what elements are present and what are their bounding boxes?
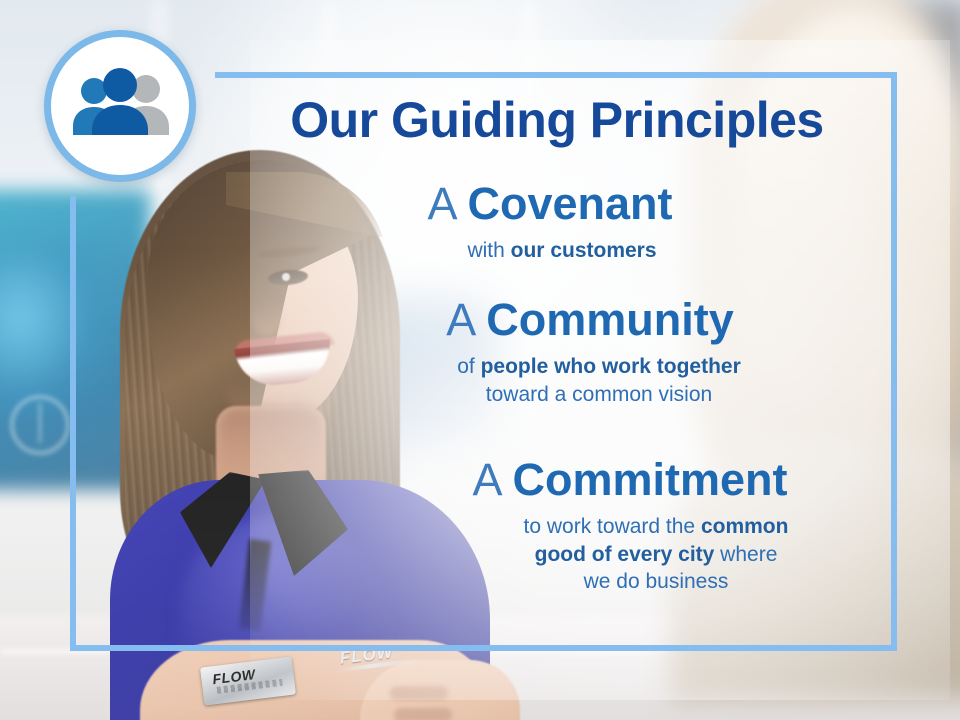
associate-neck-shadow — [216, 406, 326, 476]
associate-eye-highlight — [282, 273, 290, 281]
principle-covenant-keyword: Covenant — [468, 178, 673, 229]
principle-community-lead: A — [446, 294, 486, 345]
principle-commitment: A Commitment to work toward the commongo… — [330, 456, 930, 596]
principle-community-keyword: Community — [486, 294, 734, 345]
principle-community-subtitle: of people who work togethertoward a comm… — [290, 353, 890, 409]
associate-finger — [394, 708, 452, 720]
principle-covenant-lead: A — [427, 178, 467, 229]
principle-commitment-keyword: Commitment — [513, 454, 788, 505]
principle-covenant-subtitle: with our customers — [250, 237, 850, 265]
principle-covenant: A Covenant with our customers — [250, 180, 850, 265]
people-group-badge — [44, 30, 196, 182]
principle-covenant-title: A Covenant — [250, 180, 850, 229]
associate-nose — [252, 298, 282, 336]
people-group-icon — [67, 67, 173, 145]
principle-commitment-title: A Commitment — [330, 456, 930, 505]
principle-commitment-subtitle: to work toward the commongood of every c… — [330, 513, 930, 597]
principle-community: A Community of people who work togethert… — [290, 296, 890, 408]
frame-line-top — [215, 72, 897, 78]
associate-finger — [390, 686, 448, 700]
principle-community-title: A Community — [290, 296, 890, 345]
frame-line-left — [70, 196, 76, 651]
frame-line-bottom — [70, 645, 897, 651]
promotional-graphic: FLOW FLOW Our Guiding Prin — [0, 0, 960, 720]
page-title: Our Guiding Principles — [222, 94, 892, 146]
principle-commitment-lead: A — [472, 454, 512, 505]
